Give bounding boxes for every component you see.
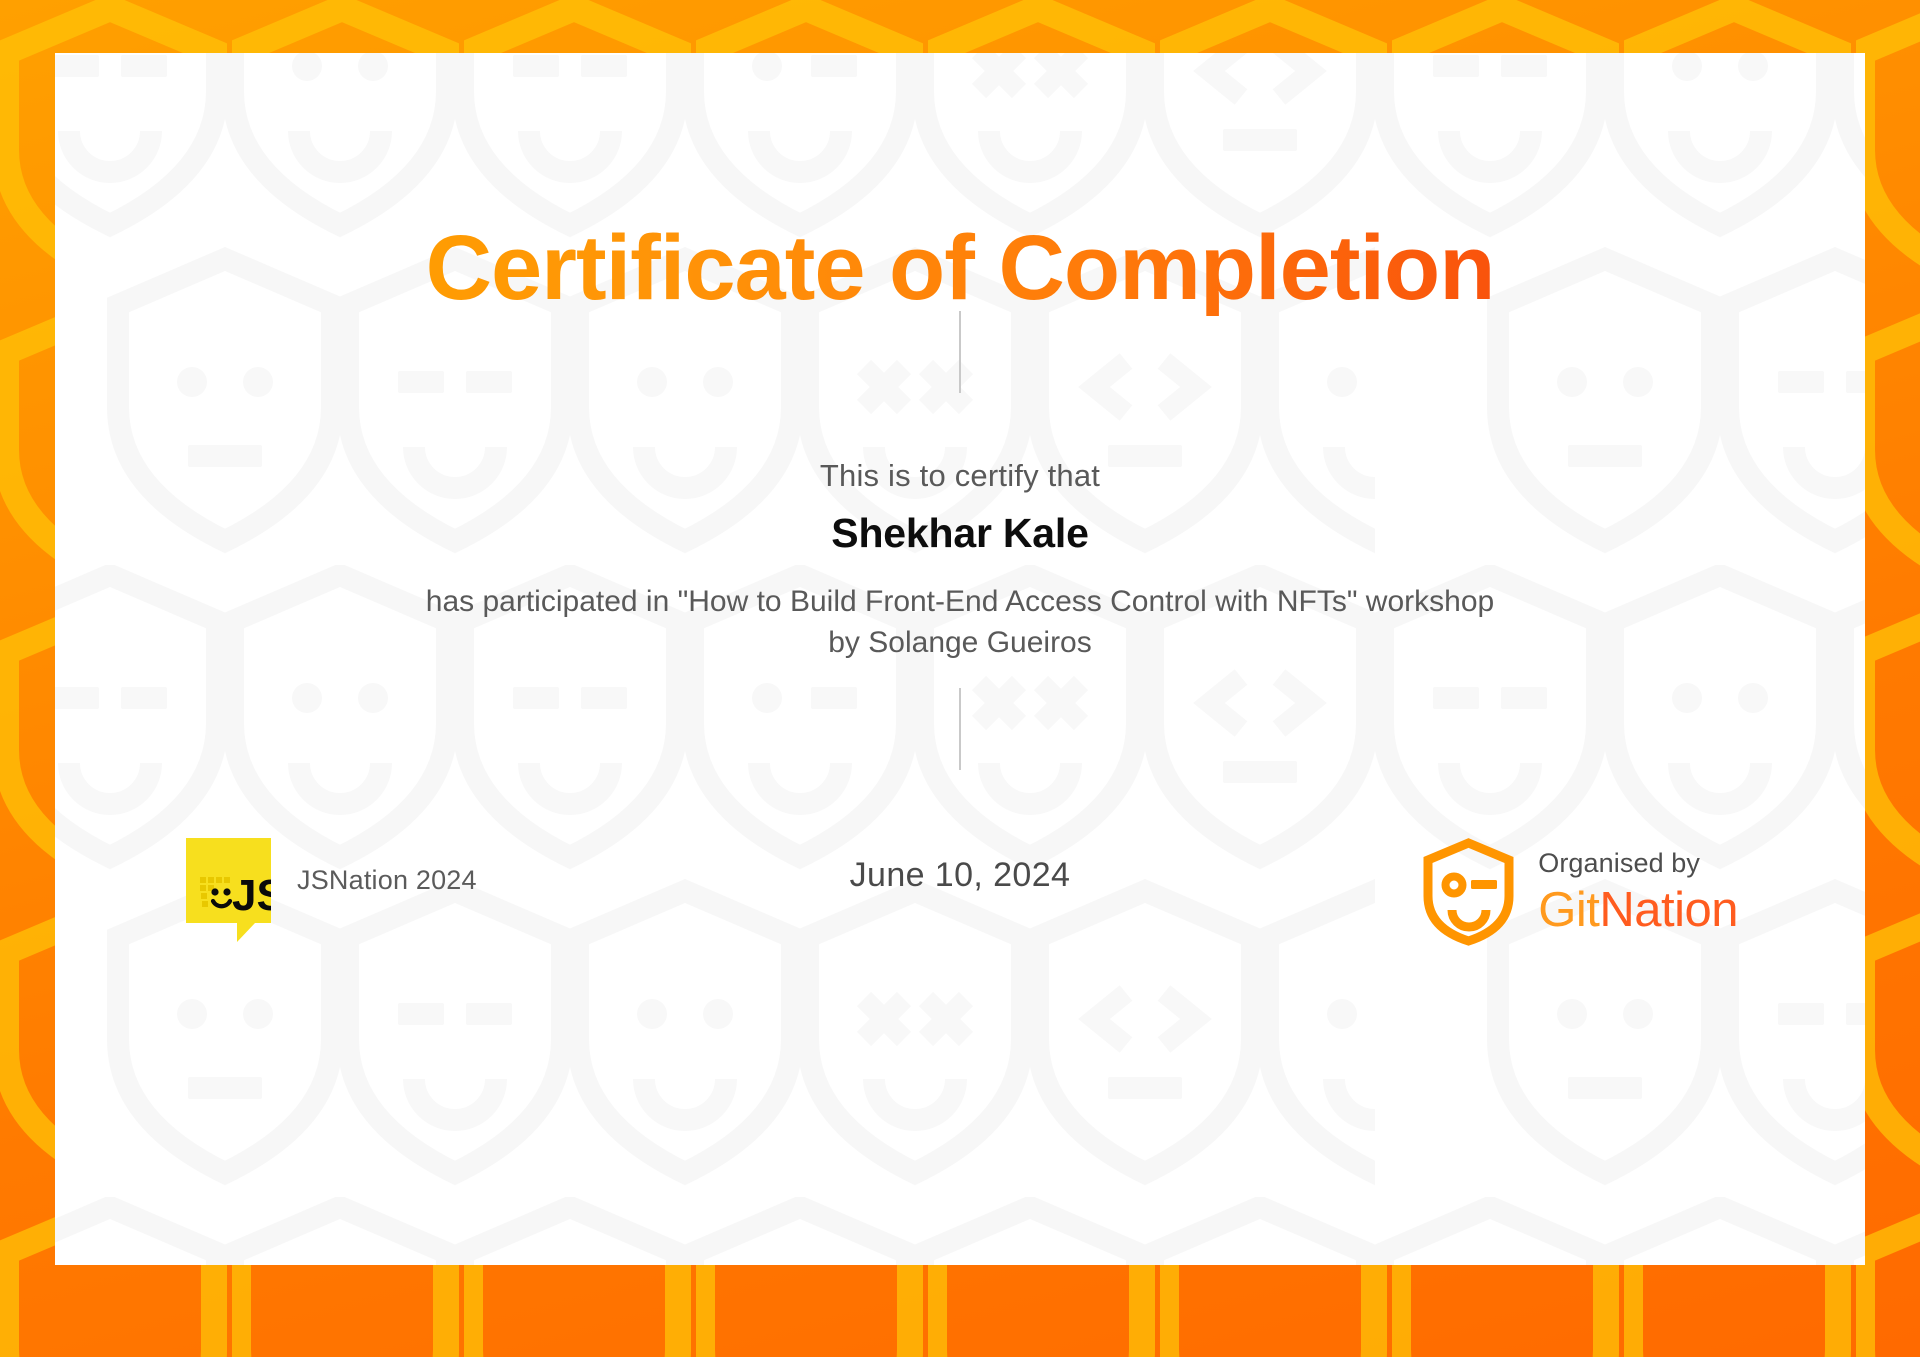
divider-bottom — [959, 688, 961, 770]
certificate-footer: JS JSNation 2024 June 10, 2024 — [55, 838, 1865, 978]
description-line-2: by Solange Gueiros — [145, 622, 1775, 663]
certificate-card: Certificate of Completion This is to cer… — [55, 53, 1865, 1265]
organisation-name-git: Git — [1538, 883, 1599, 937]
organiser-block: Organised by GitNation — [1421, 838, 1738, 946]
certify-line: This is to certify that — [55, 458, 1865, 494]
organised-by-label: Organised by — [1538, 850, 1738, 877]
gitnation-shield-icon — [1421, 838, 1516, 946]
organisation-name: GitNation — [1538, 886, 1738, 935]
page-title: Certificate of Completion — [55, 220, 1865, 317]
speech-bubble-tail — [237, 923, 255, 942]
organiser-text: Organised by GitNation — [1538, 850, 1738, 935]
description: has participated in "How to Build Front-… — [55, 581, 1865, 664]
organisation-name-nation: Nation — [1599, 883, 1738, 937]
divider-top — [959, 311, 961, 393]
recipient-name: Shekhar Kale — [55, 510, 1865, 557]
certificate: Certificate of Completion This is to cer… — [0, 0, 1920, 1357]
description-line-1: has participated in "How to Build Front-… — [426, 585, 1494, 618]
